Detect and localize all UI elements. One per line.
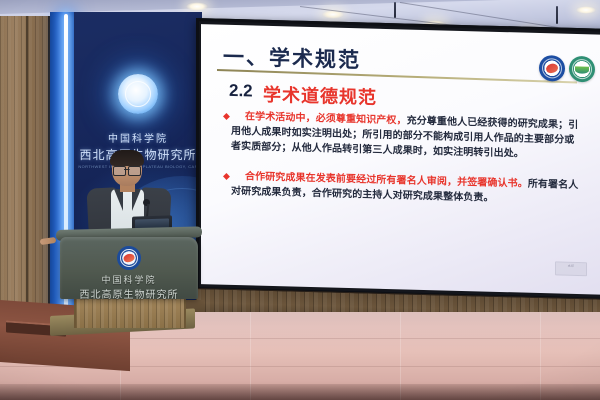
- backdrop-line-1: 中国科学院: [74, 130, 202, 145]
- glasses-icon: [113, 166, 141, 174]
- podium-line-1: 中国科学院: [60, 273, 198, 286]
- watermark-text: 水印: [556, 262, 586, 268]
- hair: [110, 150, 144, 166]
- downlight-5: [576, 6, 596, 14]
- collar-left: [114, 189, 123, 211]
- slide-logo-group: [539, 55, 595, 82]
- cas-emblem-icon: [118, 74, 158, 114]
- ceiling-drop-1: [394, 2, 396, 18]
- slide-surface: 一、学术规范 2.2 学术道德规范 ◆ 在学术活动中，必须尊重知识产权，充分尊重…: [201, 24, 600, 294]
- floor-edge-shadow: [0, 384, 600, 400]
- ceiling-drop-2: [556, 6, 558, 24]
- logo-blue-red-icon: [539, 55, 565, 82]
- presentation-room-photo: 中国科学院 西北高原生物研究所 NORTHWEST INSTITUTE OF P…: [0, 0, 600, 400]
- podium-line-2: 西北高原生物研究所: [60, 286, 198, 301]
- projection-screen: 一、学术规范 2.2 学术道德规范 ◆ 在学术活动中，必须尊重知识产权，充分尊重…: [196, 18, 600, 301]
- bullet-marker-1: ◆: [223, 111, 230, 122]
- collar-right: [132, 189, 141, 211]
- logo-green-teal-icon: [569, 56, 595, 83]
- wood-seam: [26, 16, 28, 326]
- slide-watermark: 水印: [555, 261, 587, 276]
- downlight-1: [186, 2, 208, 11]
- wood-wall-left: [0, 16, 50, 326]
- podium-front-panel: 中国科学院 西北高原生物研究所: [60, 237, 198, 299]
- section-title: 学术道德规范: [263, 81, 377, 110]
- podium-logo-icon: [117, 246, 141, 270]
- bullet-1-highlight: 在学术活动中，必须尊重知识产权，: [245, 111, 407, 126]
- bullet-paragraph-2: 合作研究成果在发表前要经过所有署名人审阅，并签署确认书。所有署名人对研究成果负责…: [231, 169, 583, 208]
- section-number: 2.2: [229, 81, 253, 102]
- bullet-paragraph-1: 在学术活动中，必须尊重知识产权，充分尊重他人已经获得的研究成果；引用他人成果时如…: [231, 109, 583, 163]
- bullet-marker-2: ◆: [223, 171, 230, 182]
